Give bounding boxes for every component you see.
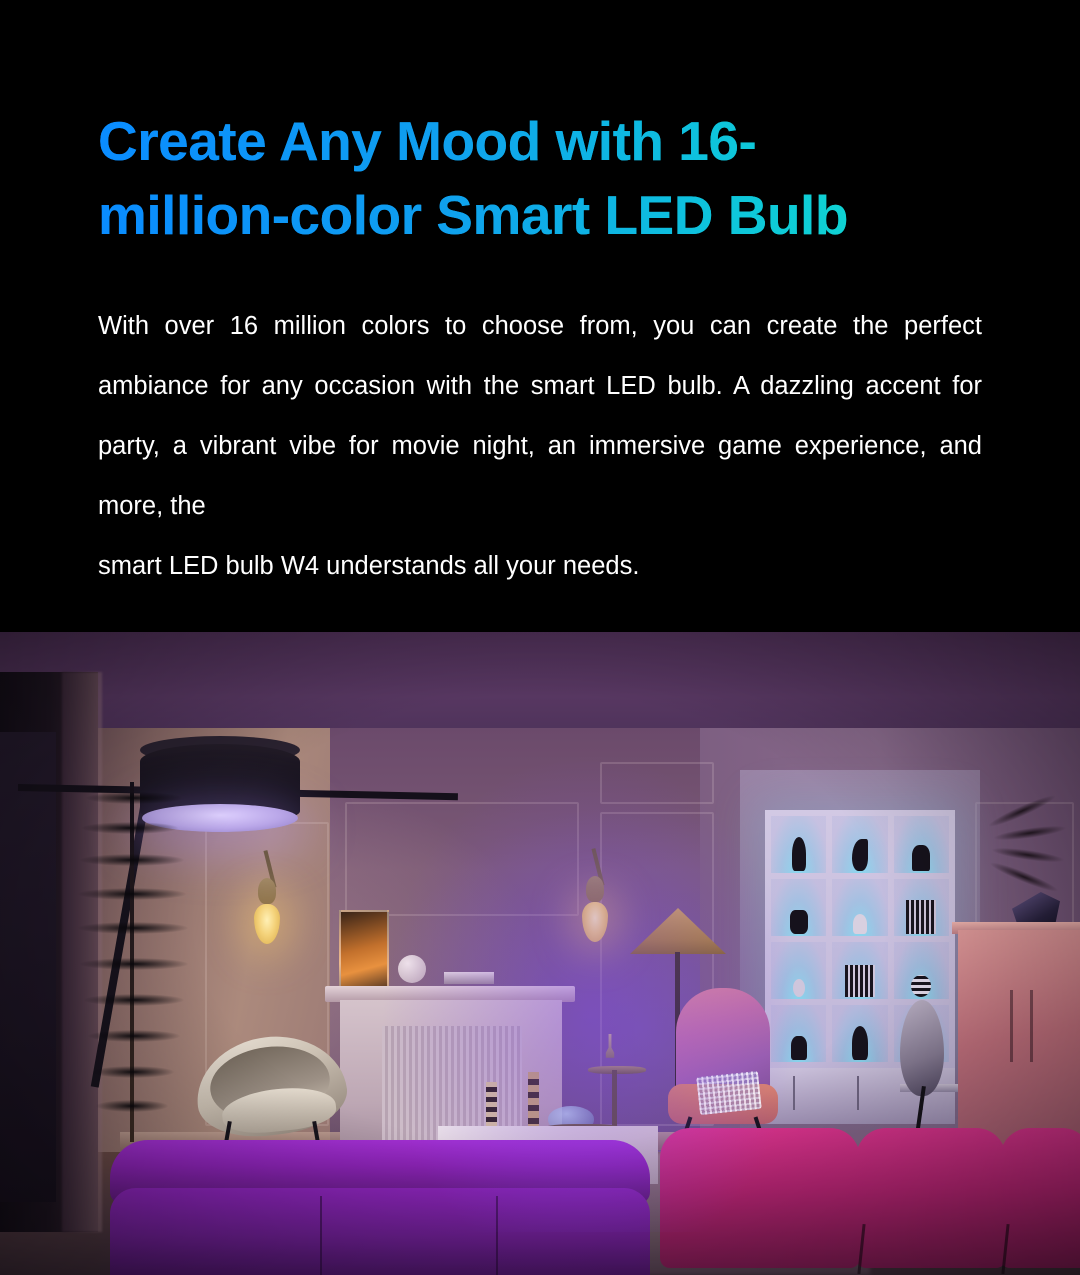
room-photo — [0, 632, 1080, 1275]
purple-sofa — [110, 1140, 650, 1275]
bookshelf-cubby — [771, 816, 826, 873]
cabinet-handle — [857, 1076, 859, 1110]
desk-chair — [900, 1000, 944, 1096]
wingback-armchair — [668, 988, 778, 1138]
bookshelf-cubby — [771, 879, 826, 936]
table-objects — [462, 1072, 642, 1130]
plant-frond — [96, 1100, 168, 1112]
page-title: Create Any Mood with 16- million-color S… — [98, 0, 982, 252]
cabinet-handle — [1030, 990, 1033, 1062]
plant-frond — [78, 922, 188, 934]
bookshelf-cubby — [832, 816, 887, 873]
bookshelf-cubby — [894, 879, 949, 936]
ottoman-module — [856, 1128, 1006, 1268]
ottoman-module — [660, 1128, 860, 1268]
body-paragraph: With over 16 million colors to choose fr… — [98, 252, 982, 596]
plant-frond — [88, 1030, 180, 1042]
armchair-pillow — [696, 1071, 762, 1115]
text-section: Create Any Mood with 16- million-color S… — [0, 0, 1080, 632]
ottoman-module — [1000, 1128, 1080, 1268]
sofa-seam — [320, 1196, 322, 1275]
body-line-1: With over 16 million colors to choose fr… — [98, 312, 837, 340]
plant-frond — [92, 1066, 174, 1078]
plant-frond — [80, 958, 188, 970]
bookshelf-cubby — [771, 1005, 826, 1062]
magenta-ottoman — [660, 1128, 1080, 1268]
plant-frond — [82, 822, 178, 834]
wall-panel — [600, 762, 714, 804]
living-room-scene — [0, 632, 1080, 1275]
plant-frond — [993, 823, 1068, 843]
candle-holder — [528, 1072, 539, 1130]
bookshelf-cubby — [771, 942, 826, 999]
mantel-books — [444, 972, 494, 984]
plant-frond — [86, 792, 182, 804]
bookshelf-cubby — [832, 942, 887, 999]
sphere-vase — [398, 955, 426, 983]
bookshelf-cubby — [894, 942, 949, 999]
sofa-seam — [496, 1196, 498, 1275]
plant-frond — [80, 854, 184, 866]
bookshelf-cubby — [832, 879, 887, 936]
framed-artwork — [339, 910, 389, 990]
sofa-seat — [110, 1188, 650, 1275]
window-glass — [0, 732, 56, 1202]
plant-frond — [84, 994, 184, 1006]
body-line-5: smart LED bulb W4 understands all your n… — [98, 536, 982, 596]
wall-sconce-right-body — [586, 876, 604, 902]
wall-sconce-left-body — [258, 878, 276, 904]
plant-frond — [78, 888, 186, 900]
bookshelf-cubby — [894, 816, 949, 873]
cabinet-handle — [1010, 990, 1013, 1062]
cabinet-handle — [793, 1076, 795, 1110]
product-feature-page: Create Any Mood with 16- million-color S… — [0, 0, 1080, 1275]
bookshelf-cubby — [832, 1005, 887, 1062]
candle-holder — [486, 1082, 497, 1130]
page-title-line-2: million-color Smart LED Bulb — [98, 178, 982, 252]
wall-panel — [345, 802, 579, 916]
plant-frond — [991, 845, 1066, 865]
page-title-line-1: Create Any Mood with 16- — [98, 104, 982, 178]
plant-frond — [988, 859, 1060, 896]
curtain — [62, 672, 102, 1232]
